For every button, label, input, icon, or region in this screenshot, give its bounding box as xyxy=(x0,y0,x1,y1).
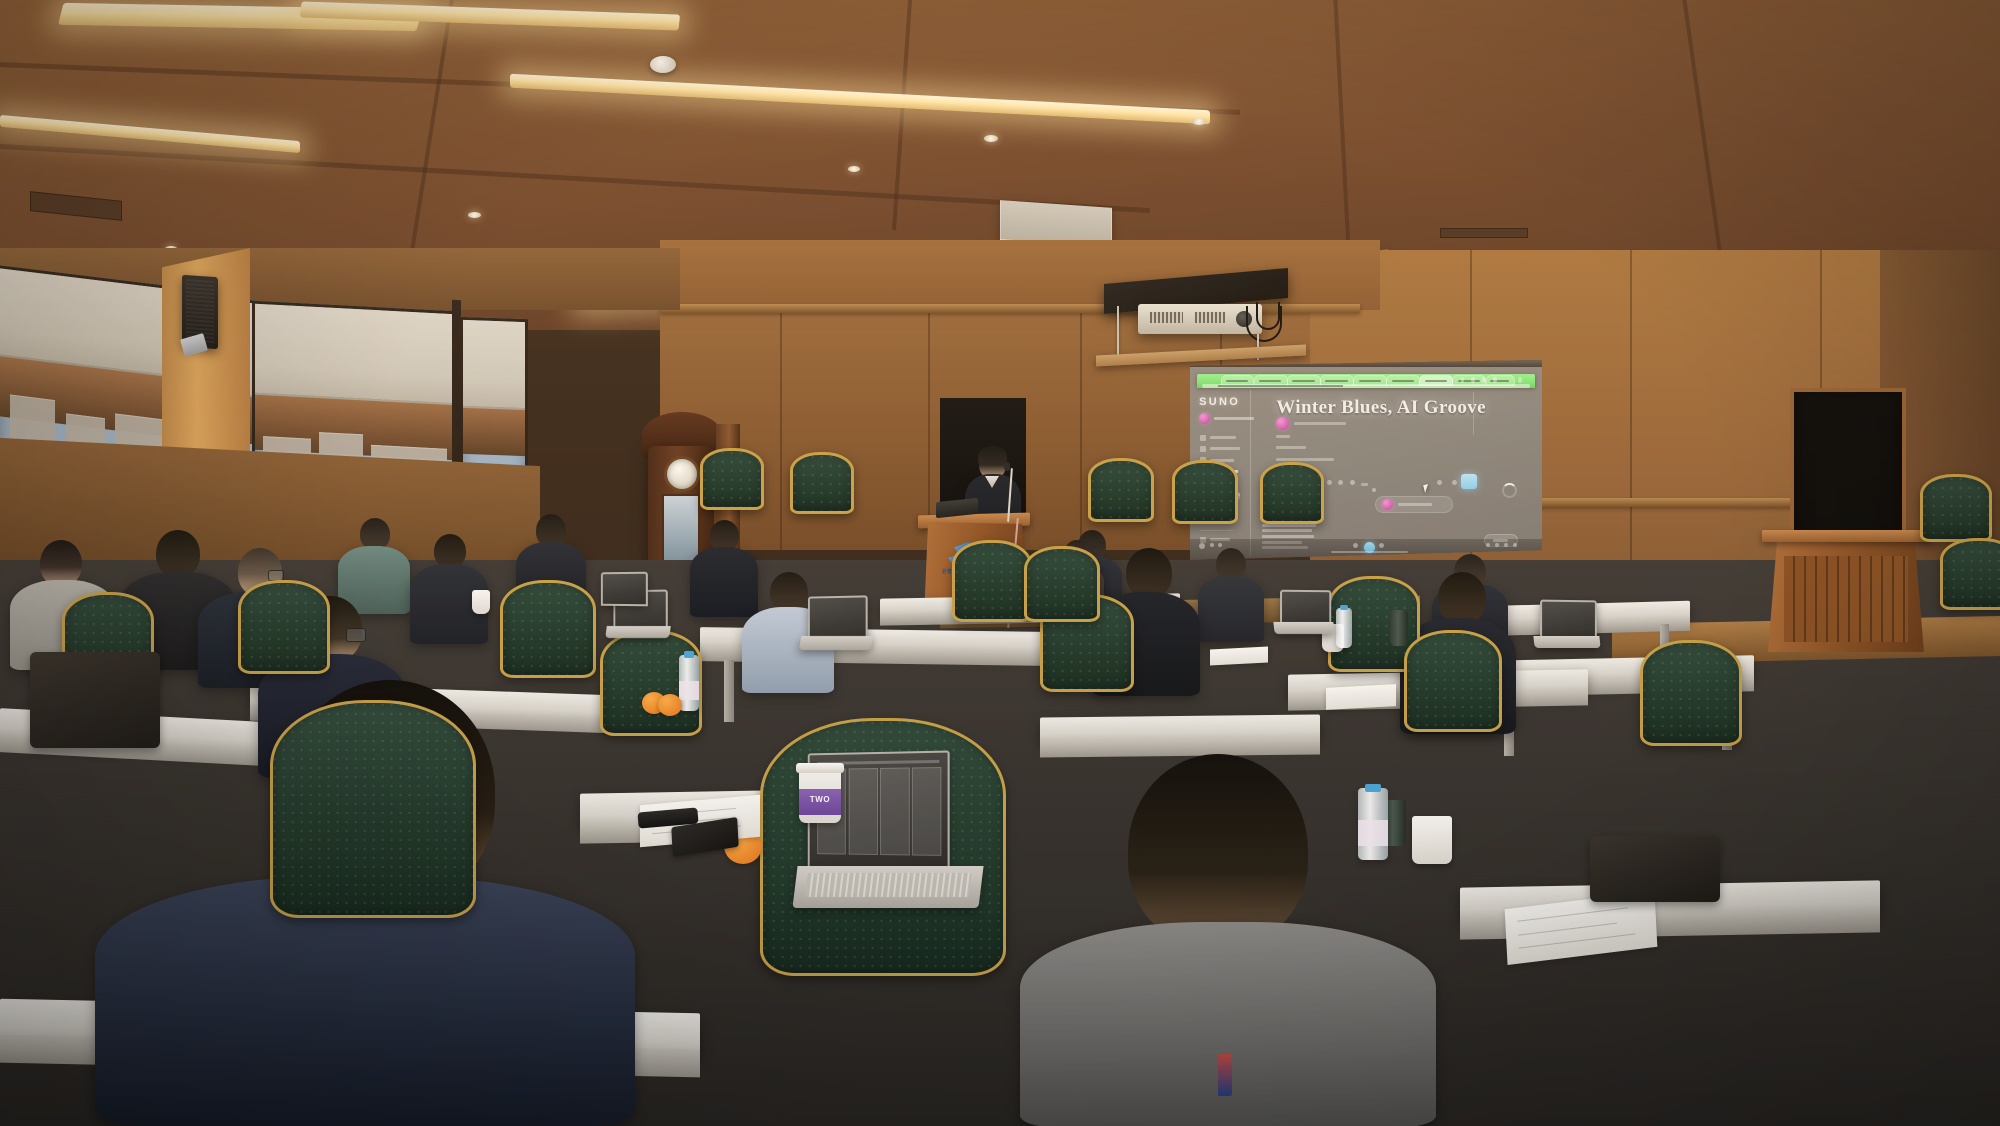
coffee-cup: TWO xyxy=(799,765,841,823)
comment-bullet xyxy=(1372,488,1376,492)
ceiling-light-strip xyxy=(510,74,1210,125)
water-bottle xyxy=(1358,788,1388,860)
mouse-cursor xyxy=(1424,483,1435,493)
chair xyxy=(270,700,470,912)
browser-action-icon[interactable] xyxy=(1482,377,1486,384)
sidebar-item-0[interactable] xyxy=(1200,435,1236,441)
address-bar[interactable] xyxy=(1202,384,1530,388)
player-icon[interactable] xyxy=(1218,543,1222,547)
chair xyxy=(1260,462,1318,518)
browser-action-icon[interactable] xyxy=(1493,377,1497,384)
sidebar-user[interactable] xyxy=(1199,413,1254,424)
chair xyxy=(1024,546,1094,616)
suno-web-app: SUNO Winter Blues, AI Groo xyxy=(1190,367,1542,560)
volume-icon[interactable] xyxy=(1513,543,1517,547)
podium-right-top xyxy=(1762,530,1930,542)
lyrics-line xyxy=(1262,529,1312,532)
projection-screen: SUNO Winter Blues, AI Groo xyxy=(1190,360,1542,560)
paper-stack xyxy=(1210,646,1268,665)
previous-icon[interactable] xyxy=(1353,543,1358,548)
presenter-hair xyxy=(978,446,1007,465)
player-icon[interactable] xyxy=(1486,543,1490,547)
window xyxy=(460,317,528,485)
comment-field[interactable] xyxy=(1375,496,1453,512)
paper-stack xyxy=(1326,684,1396,710)
sidebar-item-1[interactable] xyxy=(1200,446,1240,452)
share-icon[interactable] xyxy=(1452,480,1457,485)
laptop-keyboard[interactable] xyxy=(792,866,983,908)
podium-slats xyxy=(1784,556,1908,642)
chair xyxy=(1404,630,1496,726)
nav-icon xyxy=(1200,435,1206,441)
progress-bar[interactable] xyxy=(1331,551,1408,553)
suno-logo: SUNO xyxy=(1199,396,1240,408)
water-bottle xyxy=(1336,608,1352,648)
cup-brand-text: TWO xyxy=(799,795,841,804)
chair xyxy=(1172,460,1232,518)
microphone-icon xyxy=(1004,462,1010,471)
cup-sleeve: TWO xyxy=(799,789,841,815)
player-icon[interactable] xyxy=(1210,543,1214,547)
action-icon[interactable] xyxy=(1338,480,1343,485)
laptop-keyboard[interactable] xyxy=(605,626,671,638)
avatar xyxy=(1382,499,1393,510)
action-icon[interactable] xyxy=(1437,480,1442,485)
glasses xyxy=(346,628,366,642)
water-bottle xyxy=(679,655,699,711)
chair xyxy=(238,580,324,668)
next-icon[interactable] xyxy=(1379,543,1384,548)
chair xyxy=(790,452,848,508)
browser-menu-icon[interactable] xyxy=(1518,377,1522,384)
browser-toolbar[interactable] xyxy=(1197,374,1535,388)
chair xyxy=(1920,474,1986,536)
projector xyxy=(1138,304,1262,334)
audience-member xyxy=(410,534,492,644)
tumbler xyxy=(1390,610,1408,646)
bag xyxy=(1590,836,1720,902)
primary-action-button[interactable] xyxy=(1461,474,1477,488)
chair xyxy=(700,448,758,504)
shirt-stripe-detail xyxy=(1218,1054,1232,1096)
action-icon[interactable] xyxy=(1327,480,1332,485)
action-icon[interactable] xyxy=(1350,480,1355,485)
lyrics-line xyxy=(1262,535,1314,538)
paper-cup xyxy=(472,590,490,614)
avatar xyxy=(1276,417,1289,430)
player-icon[interactable] xyxy=(1495,543,1499,547)
chair xyxy=(1940,538,2000,604)
orange xyxy=(658,694,682,716)
nav-icon xyxy=(1200,446,1206,452)
more-icon[interactable] xyxy=(1361,483,1368,486)
bag xyxy=(30,652,160,748)
chair xyxy=(952,540,1026,616)
song-artist[interactable] xyxy=(1276,417,1346,430)
clock-face xyxy=(664,456,700,492)
chair xyxy=(1640,640,1736,740)
chair xyxy=(500,580,590,672)
song-meta-line xyxy=(1276,458,1334,461)
lyrics-line xyxy=(1262,524,1316,527)
paper-cup xyxy=(1412,816,1452,864)
song-meta-line xyxy=(1276,435,1290,438)
laptop-keyboard[interactable] xyxy=(1273,622,1334,634)
laptop-screen[interactable] xyxy=(601,572,648,607)
song-title: Winter Blues, AI Groove xyxy=(1276,397,1486,419)
song-meta-line xyxy=(1276,446,1306,449)
smoke-detector-icon xyxy=(650,56,676,73)
projector-cable xyxy=(1256,302,1280,330)
loading-spinner-icon xyxy=(1502,483,1517,498)
avatar xyxy=(1199,413,1210,424)
laptop-keyboard[interactable] xyxy=(799,636,873,650)
player-icon[interactable] xyxy=(1504,543,1508,547)
laptop-keyboard[interactable] xyxy=(1533,636,1600,648)
conference-room-photo: SUNO Winter Blues, AI Groo xyxy=(0,0,2000,1126)
audience-member xyxy=(1196,548,1266,642)
chair xyxy=(1088,458,1148,516)
